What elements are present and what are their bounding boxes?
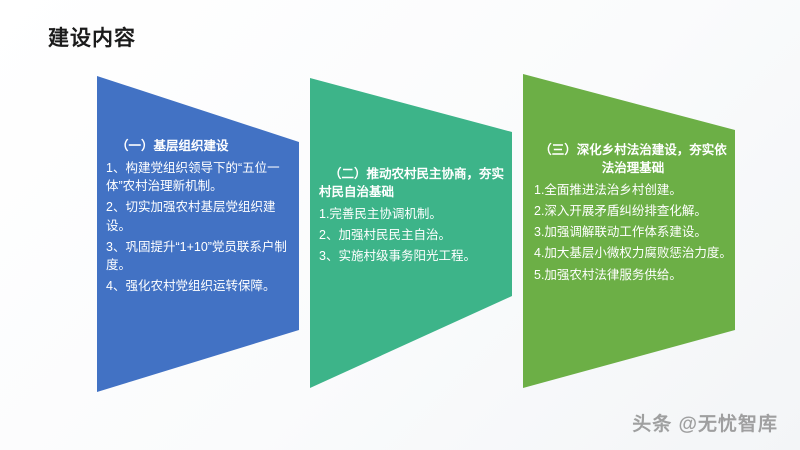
panel-two-item-1: 1.完善民主协调机制。 [319,205,505,223]
panel-three-item-4: 4.加大基层小微权力腐败惩治力度。 [534,244,732,262]
panel-two-item-2: 2、加强村民民主自治。 [319,226,505,244]
panel-three-item-3: 3.加强调解联动工作体系建设。 [534,223,732,241]
panel-one-item-2: 2、切实加强农村基层党组织建设。 [106,198,292,235]
panel-two-heading: （二）推动农村民主协商，夯实村民自治基础 [319,166,505,202]
content-panel-three[interactable]: （三）深化乡村法治建设，夯实依法治理基础 1.全面推进法治乡村创建。 2.深入开… [516,66,742,396]
panel-three-item-1: 1.全面推进法治乡村创建。 [534,181,732,199]
panel-two-text: （二）推动农村民主协商，夯实村民自治基础 1.完善民主协调机制。 2、加强村民民… [303,166,519,265]
panel-two-item-3: 3、实施村级事务阳光工程。 [319,247,505,265]
content-panel-two[interactable]: （二）推动农村民主协商，夯实村民自治基础 1.完善民主协调机制。 2、加强村民民… [303,70,519,396]
watermark: 头条 @无忧智库 [632,409,778,436]
panel-one-item-4: 4、强化农村党组织运转保障。 [106,277,292,295]
panel-three-heading: （三）深化乡村法治建设，夯实依法治理基础 [534,142,732,178]
page-title: 建设内容 [48,26,136,51]
panel-one-text: （一）基层组织建设 1、构建党组织领导下的“五位一体”农村治理新机制。 2、切实… [90,138,306,296]
panel-one-item-3: 3、巩固提升“1+10”党员联系户制度。 [106,238,292,275]
panel-one-item-1: 1、构建党组织领导下的“五位一体”农村治理新机制。 [106,159,292,196]
panel-one-heading: （一）基层组织建设 [106,138,292,156]
panel-three-item-5: 5.加强农村法律服务供给。 [534,266,732,284]
panel-three-item-2: 2.深入开展矛盾纠纷排查化解。 [534,202,732,220]
content-panel-one[interactable]: （一）基层组织建设 1、构建党组织领导下的“五位一体”农村治理新机制。 2、切实… [90,72,306,398]
slide-canvas: 建设内容 （一）基层组织建设 1、构建党组织领导下的“五位一体”农村治理新机制。… [0,0,800,450]
panel-three-text: （三）深化乡村法治建设，夯实依法治理基础 1.全面推进法治乡村创建。 2.深入开… [516,142,742,284]
